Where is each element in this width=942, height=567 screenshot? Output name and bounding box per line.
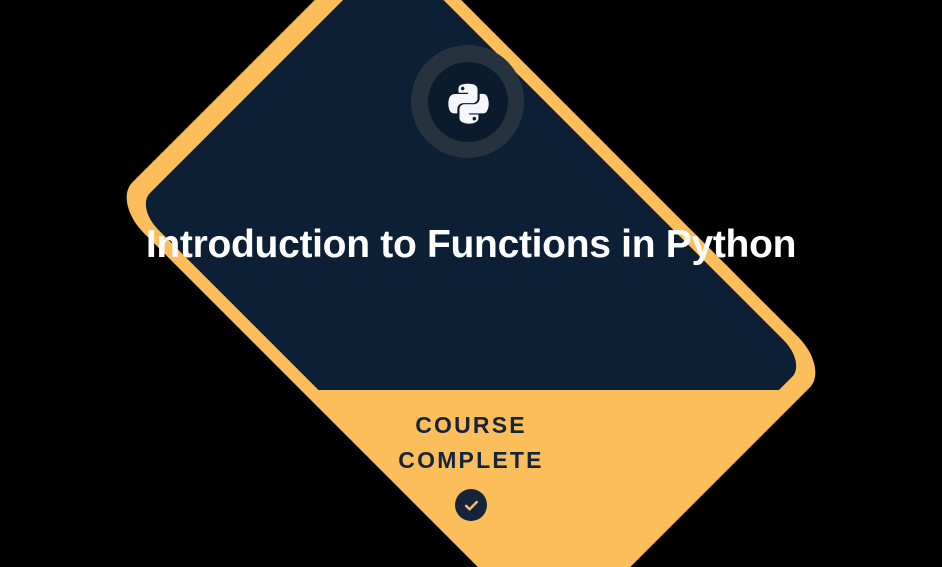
certificate-badge: Introduction to Functions in Python COUR… <box>0 0 942 567</box>
course-status-block: COURSE COMPLETE <box>271 408 671 521</box>
check-mark-icon <box>462 496 481 515</box>
course-title: Introduction to Functions in Python <box>141 222 801 268</box>
status-label-line2: COMPLETE <box>271 443 671 478</box>
python-logo-icon <box>446 80 490 124</box>
status-label-line1: COURSE <box>271 408 671 443</box>
emblem-ring-outer <box>411 45 524 158</box>
completion-check-badge <box>455 489 487 521</box>
emblem-ring-inner <box>428 62 508 142</box>
